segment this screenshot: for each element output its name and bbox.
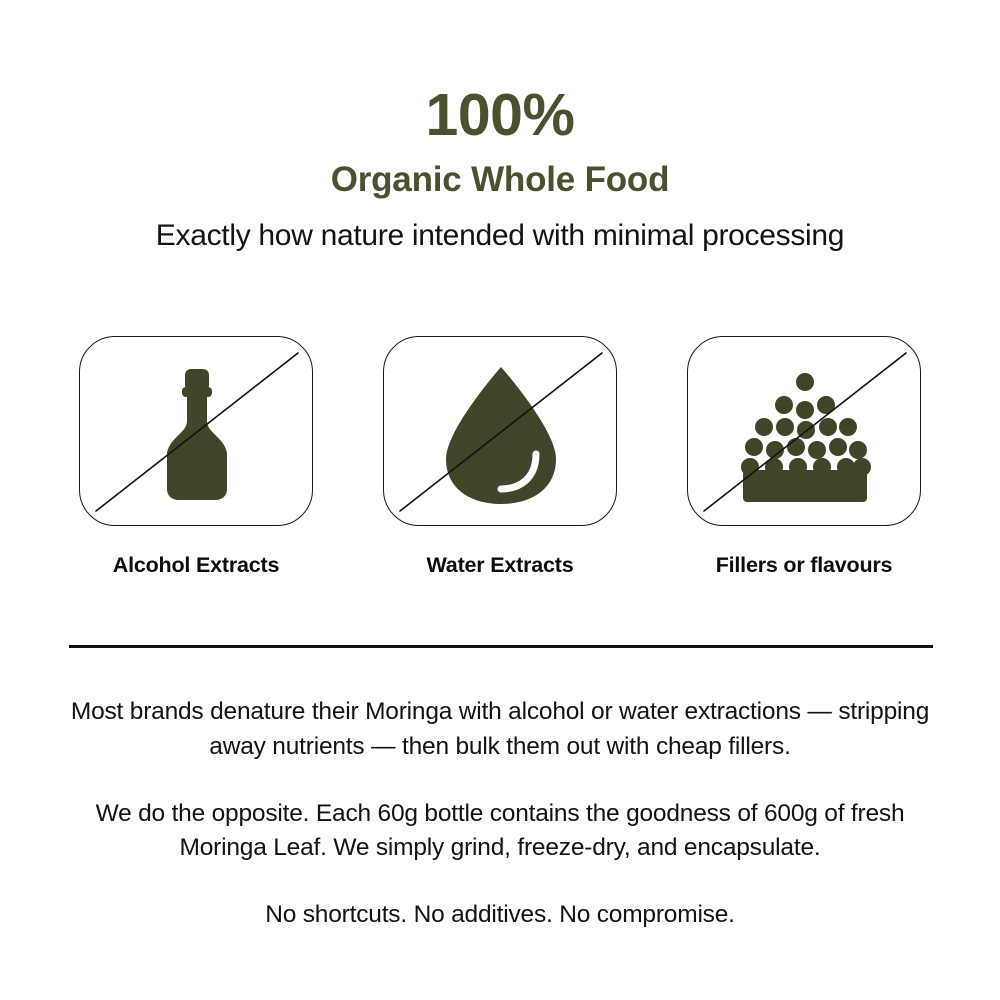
card-alcohol-extracts: Alcohol Extracts bbox=[79, 336, 313, 578]
headline-subtitle: Exactly how nature intended with minimal… bbox=[0, 219, 1000, 254]
icon-card-water-extracts bbox=[383, 336, 617, 526]
marketing-panel: 100% Organic Whole Food Exactly how natu… bbox=[0, 0, 1000, 1000]
icon-card-fillers-flavours bbox=[687, 336, 921, 526]
card-fillers-flavours: Fillers or flavours bbox=[687, 336, 921, 578]
body-paragraph-3: No shortcuts. No additives. No compromis… bbox=[50, 898, 950, 933]
body-copy: Most brands denature their Moringa with … bbox=[50, 695, 950, 933]
diagonal-strike-icon bbox=[80, 337, 313, 526]
headline-percent: 100% bbox=[0, 86, 1000, 145]
exclusion-cards-row: Alcohol Extracts Water Extracts bbox=[0, 336, 1000, 578]
diagonal-strike-icon bbox=[688, 337, 921, 526]
card-label-water-extracts: Water Extracts bbox=[427, 553, 574, 578]
diagonal-strike-icon bbox=[384, 337, 617, 526]
card-water-extracts: Water Extracts bbox=[383, 336, 617, 578]
body-paragraph-1: Most brands denature their Moringa with … bbox=[50, 695, 950, 765]
headline-title: Organic Whole Food bbox=[0, 162, 1000, 199]
card-label-fillers-flavours: Fillers or flavours bbox=[716, 553, 893, 578]
section-divider bbox=[69, 645, 933, 648]
card-label-alcohol-extracts: Alcohol Extracts bbox=[113, 553, 279, 578]
headline-block: 100% Organic Whole Food Exactly how natu… bbox=[0, 0, 1000, 253]
icon-card-alcohol-extracts bbox=[79, 336, 313, 526]
body-paragraph-2: We do the opposite. Each 60g bottle cont… bbox=[50, 797, 950, 867]
